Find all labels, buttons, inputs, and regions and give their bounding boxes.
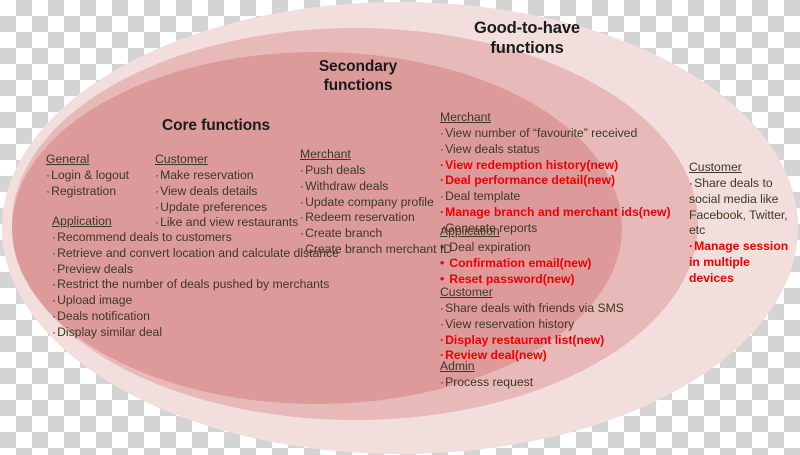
list-item-new: Deal performance detail(new) [440,173,671,189]
list-item: Deals notification [52,309,339,325]
secondary-merchant-list: View number of “favourite” received View… [440,126,671,237]
secondary-customer-group: Customer Share deals with friends via SM… [440,285,624,364]
list-item: Update company profile [300,195,452,211]
list-item: Registration [46,184,129,200]
list-item: Push deals [300,163,452,179]
secondary-admin-heading: Admin [440,359,533,375]
core-application-list: Recommend deals to customers Retrieve an… [52,230,339,341]
list-item: Preview deals [52,262,339,278]
core-general-group: General Login & logout Registration [46,152,129,200]
list-item: View deals details [155,184,298,200]
list-item: View reservation history [440,317,624,333]
list-item: Recommend deals to customers [52,230,339,246]
list-item: Restrict the number of deals pushed by m… [52,277,339,293]
core-application-heading: Application [52,214,339,230]
core-customer-heading: Customer [155,152,298,168]
list-item: Process request [440,375,533,391]
secondary-application-heading: Application [440,224,591,240]
core-title: Core functions [148,117,284,136]
list-item: View number of “favourite” received [440,126,671,142]
list-item-new: Manage branch and merchant ids(new) [440,205,671,221]
list-item: Deal expiration [440,240,591,256]
list-item: Deal template [440,189,671,205]
secondary-application-list: Deal expiration Confirmation email(new) … [440,240,591,288]
list-item-new: Display restaurant list(new) [440,333,624,349]
core-general-heading: General [46,152,129,168]
diagram-canvas: Good-to-have functions Secondary functio… [0,0,800,455]
good-to-have-customer-group: Customer Share deals to social media lik… [689,160,795,287]
list-item-new: Confirmation email(new) [440,256,591,272]
secondary-merchant-group: Merchant View number of “favourite” rece… [440,110,671,237]
core-merchant-heading: Merchant [300,147,452,163]
secondary-admin-group: Admin Process request [440,359,533,391]
list-item-new: Manage session in multiple devices [689,239,795,287]
list-item: Upload image [52,293,339,309]
secondary-title: Secondary functions [292,58,424,96]
good-to-have-customer-list: Share deals to social media like Faceboo… [689,176,795,287]
secondary-merchant-heading: Merchant [440,110,671,126]
list-item: Withdraw deals [300,179,452,195]
good-to-have-customer-heading: Customer [689,160,795,176]
list-item: Display similar deal [52,325,339,341]
secondary-admin-list: Process request [440,375,533,391]
secondary-customer-list: Share deals with friends via SMS View re… [440,301,624,364]
list-item: Make reservation [155,168,298,184]
core-application-group: Application Recommend deals to customers… [52,214,339,341]
list-item: Share deals with friends via SMS [440,301,624,317]
list-item: View deals status [440,142,671,158]
list-item: Login & logout [46,168,129,184]
list-item: Share deals to social media like Faceboo… [689,176,795,239]
core-general-list: Login & logout Registration [46,168,129,200]
list-item: Retrieve and convert location and calcul… [52,246,339,262]
list-item-new: View redemption history(new) [440,158,671,174]
secondary-customer-heading: Customer [440,285,624,301]
good-to-have-title: Good-to-have functions [452,18,602,58]
secondary-application-group: Application Deal expiration Confirmation… [440,224,591,287]
